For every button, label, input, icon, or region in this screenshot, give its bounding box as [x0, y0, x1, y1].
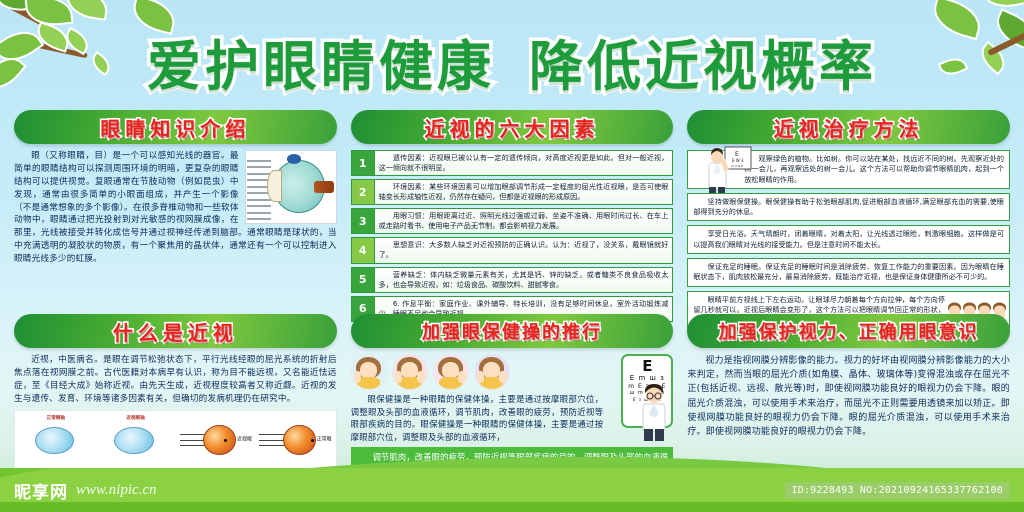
eyeball-shape — [35, 427, 74, 454]
list-item: 2 环境因素：某些环境因素可以增加眼部调节形成一定程度的屈光性近视眼，是否可使眼… — [351, 179, 674, 205]
factor-list: 1 遗传因素：近视眼已被公认有一定的遗传倾向，对高度近视更是如此。但对一般近视，… — [351, 150, 674, 322]
factor-text: 遗传因素：近视眼已被公认有一定的遗传倾向，对高度近视更是如此。但对一般近视，这一… — [374, 151, 673, 175]
list-item: 坚持做眼保健操。眼保健操有助于松弛眼部肌肉,促进眼部血液循环,满足眼部充血的需要… — [687, 193, 1010, 222]
exercise-step-3-icon — [433, 354, 469, 390]
cornea-shape — [267, 170, 281, 202]
heading-what-is-myopia: 什么是近视 — [113, 317, 238, 346]
heading-eye-knowledge: 眼睛知识介绍 — [100, 113, 250, 142]
eye-knowledge-content: 眼（又称眼睛，目）是一个可以感知光线的器官。最简单的眼睛结构可以探测周围环境的明… — [14, 150, 337, 266]
eye-chart-row: E m ш ɜ — [630, 374, 665, 383]
panel-treatment: 近视治疗方法 E E W 3 m 3 w E — [687, 110, 1010, 306]
figure-myopic-eye: 近视眼 — [177, 414, 253, 466]
list-item: 5 营养缺乏：体内缺乏微量元素有关，尤其是钙、锌的缺乏，或者糖类不良食品吸收太多… — [351, 267, 674, 293]
factor-number: 1 — [352, 151, 374, 175]
heading-six-factors: 近视的六大因素 — [424, 113, 599, 142]
poster-canvas: 爱护眼睛健康降低近视概率 眼睛知识介绍 眼（又称眼睛，目）是一个可以感知光线的器… — [0, 0, 1024, 512]
factor-number: 5 — [352, 268, 374, 292]
banner-treatment: 近视治疗方法 — [687, 110, 1010, 144]
heading-treatment: 近视治疗方法 — [774, 113, 924, 142]
treatment-list: E E W 3 m 3 w E — [687, 150, 1010, 329]
eye-exercises-body: 眼保健操是一种眼睛的保健体操，主要是通过按摩眼部穴位，调整眼及头部的血液循环，调… — [351, 393, 604, 443]
svg-text:E W 3: E W 3 — [732, 158, 744, 163]
eye-anatomy-diagram — [245, 150, 337, 224]
doctor-icon — [637, 383, 671, 441]
banner-vision-awareness: 加强保护视力、正确用眼意识 — [687, 314, 1010, 348]
factor-text: 思想意识：大多数人缺乏对近视预防的正确认识。认为：近视了，没关系，戴眼镜就好了。 — [374, 238, 673, 262]
title-left: 爱护眼睛健康 — [147, 35, 495, 98]
poster-title: 爱护眼睛健康降低近视概率 — [0, 22, 1024, 101]
eye-chart-row: E — [642, 359, 652, 374]
list-item: 1 遗传因素：近视眼已被公认有一定的遗传倾向，对高度近视更是如此。但对一般近视，… — [351, 150, 674, 176]
light-ray — [180, 440, 206, 441]
figure-label: 近视眼轴 — [98, 415, 174, 421]
eye-exercise-content: 眼保健操是一种眼睛的保健体操，主要是通过按摩眼部穴位，调整眼及头部的血液循环，调… — [351, 354, 674, 443]
site-url: www.nipic.cn — [76, 482, 157, 499]
vision-awareness-body: 视力是指视网膜分辨影像的能力。视力的好坏由视网膜分辨影像能力的大小来判定，然而当… — [687, 354, 1010, 439]
factor-text: 用眼习惯：用眼距离过近、照明光线过强或过弱、坐姿不准确、用眼时间过长、在车上或走… — [374, 209, 673, 233]
treatment-text: 享受日光浴。天气晴朗时，闭着眼睛，对着太阳，让光线透过眼睑，刺激眼细胞。这样做是… — [693, 229, 1004, 248]
svg-text:E: E — [735, 151, 739, 158]
eyeball-shape — [203, 425, 236, 455]
treatment-text: 坚持做眼保健操。眼保健操有助于松弛眼部肌肉,促进眼部血液循环,满足眼部充血的需要… — [693, 197, 1004, 216]
panel-eye-knowledge: 眼睛知识介绍 眼（又称眼睛，目）是一个可以感知光线的器官。最简单的眼睛结构可以探… — [14, 110, 337, 306]
factor-number: 3 — [352, 209, 374, 233]
panel-grid: 眼睛知识介绍 眼（又称眼睛，目）是一个可以感知光线的器官。最简单的眼睛结构可以探… — [14, 110, 1010, 466]
figure-label: 近视眼 — [237, 437, 252, 443]
list-item: 3 用眼习惯：用眼距离过近、照明光线过强或过弱、坐姿不准确、用眼时间过长、在车上… — [351, 208, 674, 234]
exercise-avatars — [351, 354, 604, 390]
figure-myopic-axis: 近视眼轴 — [98, 414, 174, 466]
focus-point — [224, 439, 227, 442]
factor-number: 2 — [352, 180, 374, 204]
exercise-step-4-icon — [474, 354, 510, 390]
light-ray — [180, 445, 206, 446]
figure-normal-axis: 正常眼轴 — [18, 414, 94, 466]
light-ray — [259, 445, 285, 446]
list-item: E E W 3 m 3 w E — [687, 150, 1010, 189]
list-item: 享受日光浴。天气晴朗时，闭着眼睛，对着太阳，让光线透过眼睑，刺激眼细胞。这样做是… — [687, 225, 1010, 254]
factor-text: 环境因素：某些环境因素可以增加眼部调节形成一定程度的屈光性近视眼，是否可使眼轴变… — [374, 180, 673, 204]
banner-eye-exercises: 加强眼保健操的推行 — [351, 314, 674, 348]
doctor-illustration — [637, 383, 671, 441]
factor-number: 4 — [352, 238, 374, 262]
panel-six-factors: 近视的六大因素 1 遗传因素：近视眼已被公认有一定的遗传倾向，对高度近视更是如此… — [351, 110, 674, 306]
myopia-diagrams: 正常眼轴 近视眼轴 近视眼 — [14, 410, 337, 470]
figure-normal-eye: 正常眼 — [257, 414, 333, 466]
list-item: 4 思想意识：大多数人缺乏对近视预防的正确认识。认为：近视了，没关系，戴眼镜就好… — [351, 237, 674, 263]
leaf-shape — [979, 0, 1024, 12]
heading-eye-exercises: 加强眼保健操的推行 — [422, 318, 602, 344]
light-ray — [259, 434, 285, 435]
svg-text:m 3 w E: m 3 w E — [731, 164, 743, 168]
site-brand: 昵享网 — [14, 478, 68, 503]
banner-eye-knowledge: 眼睛知识介绍 — [14, 110, 337, 144]
heading-vision-awareness: 加强保护视力、正确用眼意识 — [719, 318, 979, 344]
treatment-text: 保证充足的睡眠。保证充足的睡眠时间是消除疲劳、恢复工作能力的重要因素。因为眼睛在… — [693, 262, 1004, 281]
banner-what-is-myopia: 什么是近视 — [14, 314, 337, 348]
optic-nerve-shape — [314, 181, 334, 193]
eyeball-shape — [114, 427, 153, 454]
title-right: 降低近视概率 — [529, 35, 877, 98]
panel-what-is-myopia: 什么是近视 近视，中医病名。是眼在调节松弛状态下，平行光线经眼的屈光系统的折射后… — [14, 314, 337, 481]
leaf-shape — [64, 0, 109, 21]
figure-label: 正常眼轴 — [18, 415, 94, 421]
treatment-text: 观察绿色的植物。比如树。你可以站在某处，找远近不同的树。先观察近处的树一会儿，再… — [744, 154, 1004, 184]
light-ray — [180, 434, 206, 435]
image-id-tag: ID:9228493 NO:20210924165337762100 — [785, 482, 1011, 499]
light-ray — [259, 440, 285, 441]
leaf-shape — [0, 0, 52, 19]
list-item: 保证充足的睡眠。保证充足的睡眠时间是消除疲劳、恢复工作能力的重要因素。因为眼睛在… — [687, 258, 1010, 287]
panel-vision-awareness: 加强保护视力、正确用眼意识 视力是指视网膜分辨影像的能力。视力的好坏由视网膜分辨… — [687, 314, 1010, 481]
exercise-step-2-icon — [392, 354, 428, 390]
panel-eye-exercises: 加强眼保健操的推行 — [351, 314, 674, 481]
figure-label: 正常眼 — [317, 437, 332, 443]
footer-bar: 昵享网 www.nipic.cn ID:9228493 NO:202109241… — [0, 468, 1024, 512]
factor-text: 营养缺乏：体内缺乏微量元素有关，尤其是钙、锌的缺乏，或者糖类不良食品吸收太多，也… — [374, 268, 673, 292]
what-is-myopia-body: 近视，中医病名。是眼在调节松弛状态下，平行光线经眼的屈光系统的折射后焦点落在视网… — [14, 354, 337, 406]
banner-six-factors: 近视的六大因素 — [351, 110, 674, 144]
exercise-step-1-icon — [351, 354, 387, 390]
